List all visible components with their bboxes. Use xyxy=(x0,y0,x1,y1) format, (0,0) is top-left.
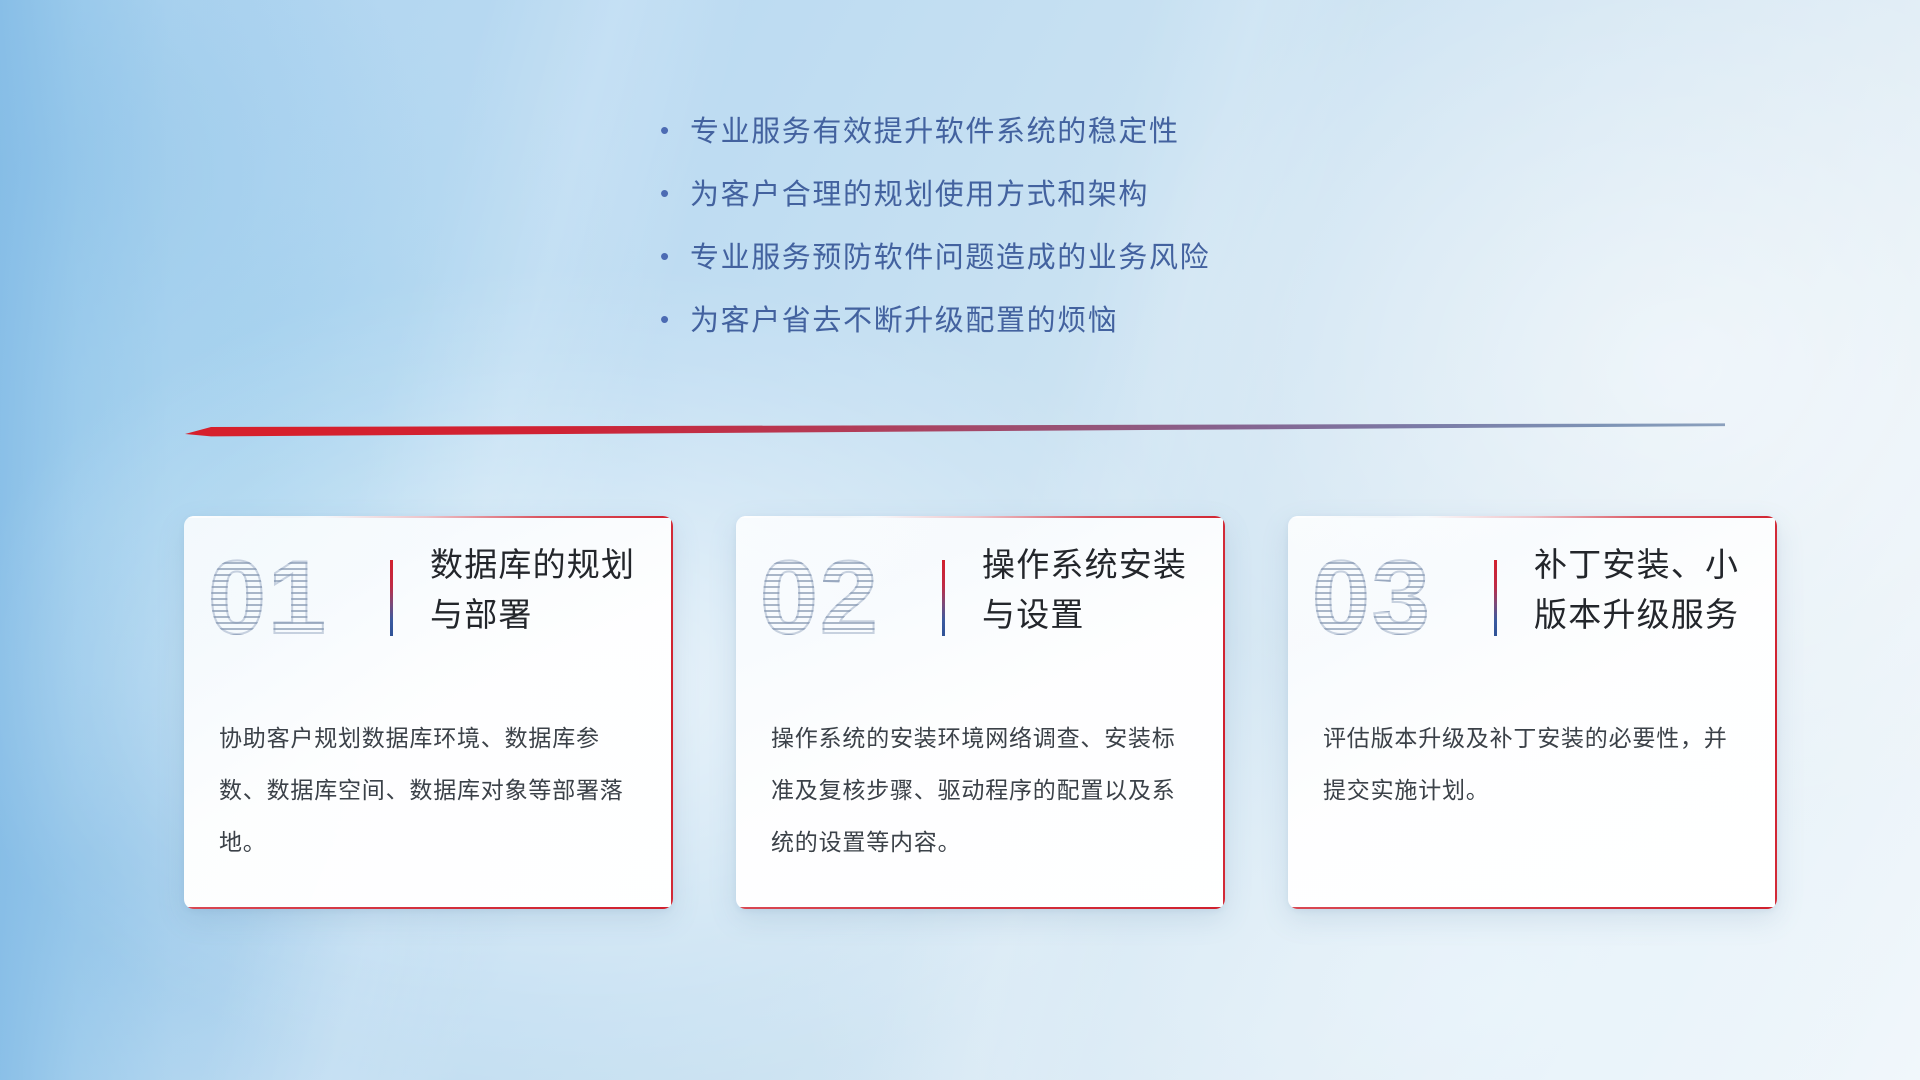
bullet-marker-icon: • xyxy=(660,180,690,206)
bullet-item-2: • 为客户合理的规划使用方式和架构 xyxy=(660,171,1480,234)
bullet-label: 为客户省去不断升级配置的烦恼 xyxy=(690,297,1118,339)
bullet-label: 专业服务预防软件问题造成的业务风险 xyxy=(690,234,1210,276)
card-header: 02 操作系统安装与设置 xyxy=(736,516,1225,704)
bullet-item-4: • 为客户省去不断升级配置的烦恼 xyxy=(660,297,1480,360)
section-divider xyxy=(185,420,1725,442)
card-step-number: 02 xyxy=(760,538,928,658)
card-step-number: 01 xyxy=(208,538,376,658)
card-title: 操作系统安装与设置 xyxy=(982,540,1211,640)
card-divider-rule xyxy=(1494,560,1497,636)
card-bottom-edge xyxy=(184,907,673,909)
card-step-number: 03 xyxy=(1312,538,1480,658)
divider-shape-icon xyxy=(185,420,1725,442)
slide-canvas: • 专业服务有效提升软件系统的稳定性 • 为客户合理的规划使用方式和架构 • 专… xyxy=(0,0,1920,1080)
service-card-03[interactable]: 03 补丁安装、小版本升级服务 评估版本升级及补丁安装的必要性，并提交实施计划。 xyxy=(1288,516,1777,909)
card-header: 01 数据库的规划与部署 xyxy=(184,516,673,704)
service-card-01[interactable]: 01 数据库的规划与部署 协助客户规划数据库环境、数据库参数、数据库空间、数据库… xyxy=(184,516,673,909)
card-header: 03 补丁安装、小版本升级服务 xyxy=(1288,516,1777,704)
card-title: 数据库的规划与部署 xyxy=(430,540,659,640)
bullet-label: 专业服务有效提升软件系统的稳定性 xyxy=(690,108,1180,150)
card-description: 评估版本升级及补丁安装的必要性，并提交实施计划。 xyxy=(1323,712,1747,816)
card-title: 补丁安装、小版本升级服务 xyxy=(1534,540,1763,640)
bullet-item-1: • 专业服务有效提升软件系统的稳定性 xyxy=(660,108,1480,171)
benefits-bullet-list: • 专业服务有效提升软件系统的稳定性 • 为客户合理的规划使用方式和架构 • 专… xyxy=(660,108,1480,360)
card-divider-rule xyxy=(942,560,945,636)
service-card-row: 01 数据库的规划与部署 协助客户规划数据库环境、数据库参数、数据库空间、数据库… xyxy=(0,516,1920,936)
card-bottom-edge xyxy=(1288,907,1777,909)
bullet-label: 为客户合理的规划使用方式和架构 xyxy=(690,171,1149,213)
service-card-02[interactable]: 02 操作系统安装与设置 操作系统的安装环境网络调查、安装标准及复核步骤、驱动程… xyxy=(736,516,1225,909)
card-bottom-edge xyxy=(736,907,1225,909)
card-description: 协助客户规划数据库环境、数据库参数、数据库空间、数据库对象等部署落地。 xyxy=(219,712,643,868)
bullet-marker-icon: • xyxy=(660,243,690,269)
bullet-item-3: • 专业服务预防软件问题造成的业务风险 xyxy=(660,234,1480,297)
bullet-marker-icon: • xyxy=(660,306,690,332)
card-description: 操作系统的安装环境网络调查、安装标准及复核步骤、驱动程序的配置以及系统的设置等内… xyxy=(771,712,1195,868)
card-divider-rule xyxy=(390,560,393,636)
bullet-marker-icon: • xyxy=(660,117,690,143)
